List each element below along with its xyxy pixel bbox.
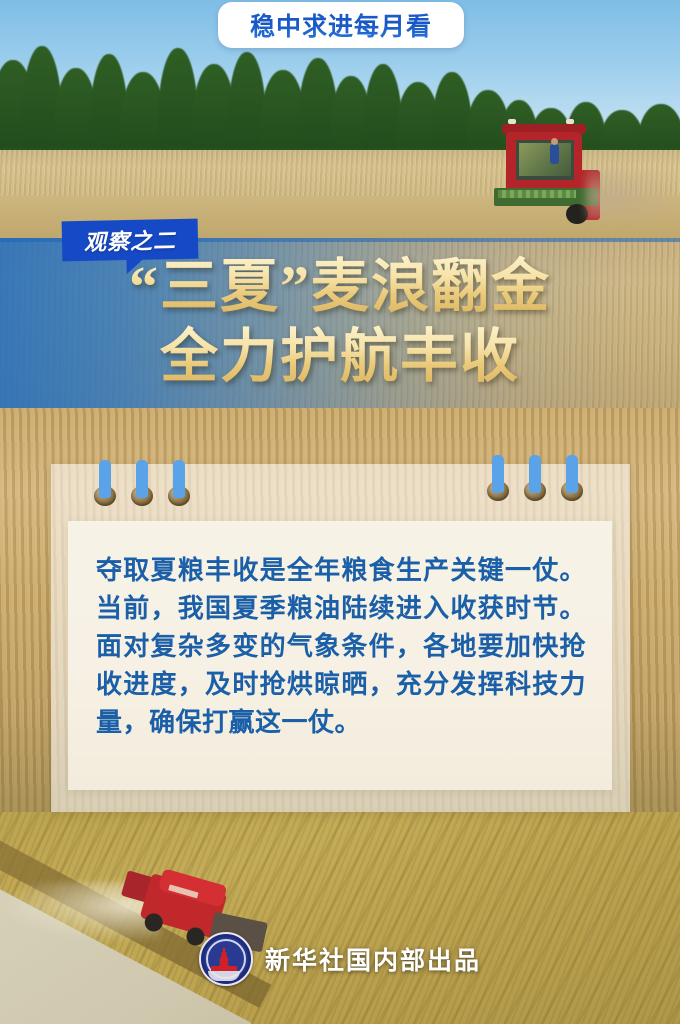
xinhua-emblem-icon bbox=[199, 932, 253, 986]
title-line-1: “三夏”麦浪翻金 bbox=[0, 252, 680, 322]
pin-icon bbox=[99, 460, 111, 506]
bottom-aerial-photo bbox=[0, 812, 680, 1024]
pin-group-right bbox=[492, 455, 578, 501]
dust-cloud bbox=[586, 160, 680, 220]
top-series-pill: 稳中求进每月看 bbox=[218, 2, 464, 48]
pin-group-left bbox=[99, 460, 185, 506]
pin-icon bbox=[566, 455, 578, 501]
poster-root: 观察之二 “三夏”麦浪翻金 全力护航丰收 夺取夏粮丰收是全年粮食生产关键一仗。当… bbox=[0, 0, 680, 1024]
pin-icon bbox=[173, 460, 185, 506]
footer-credit: 新华社国内部出品 bbox=[0, 932, 680, 986]
top-series-pill-label: 稳中求进每月看 bbox=[250, 7, 432, 43]
pin-icon bbox=[492, 455, 504, 501]
pin-icon bbox=[136, 460, 148, 506]
page-title: “三夏”麦浪翻金 全力护航丰收 bbox=[0, 252, 680, 392]
series-banner-label: 观察之二 bbox=[62, 219, 199, 262]
title-line-2: 全力护航丰收 bbox=[0, 322, 680, 392]
pin-icon bbox=[529, 455, 541, 501]
series-banner: 观察之二 bbox=[62, 219, 199, 262]
credit-label: 新华社国内部出品 bbox=[265, 941, 481, 977]
series-banner-tail bbox=[126, 260, 142, 274]
note-card-paragraph: 夺取夏粮丰收是全年粮食生产关键一仗。当前，我国夏季粮油陆续进入收获时节。面对复杂… bbox=[96, 552, 586, 742]
